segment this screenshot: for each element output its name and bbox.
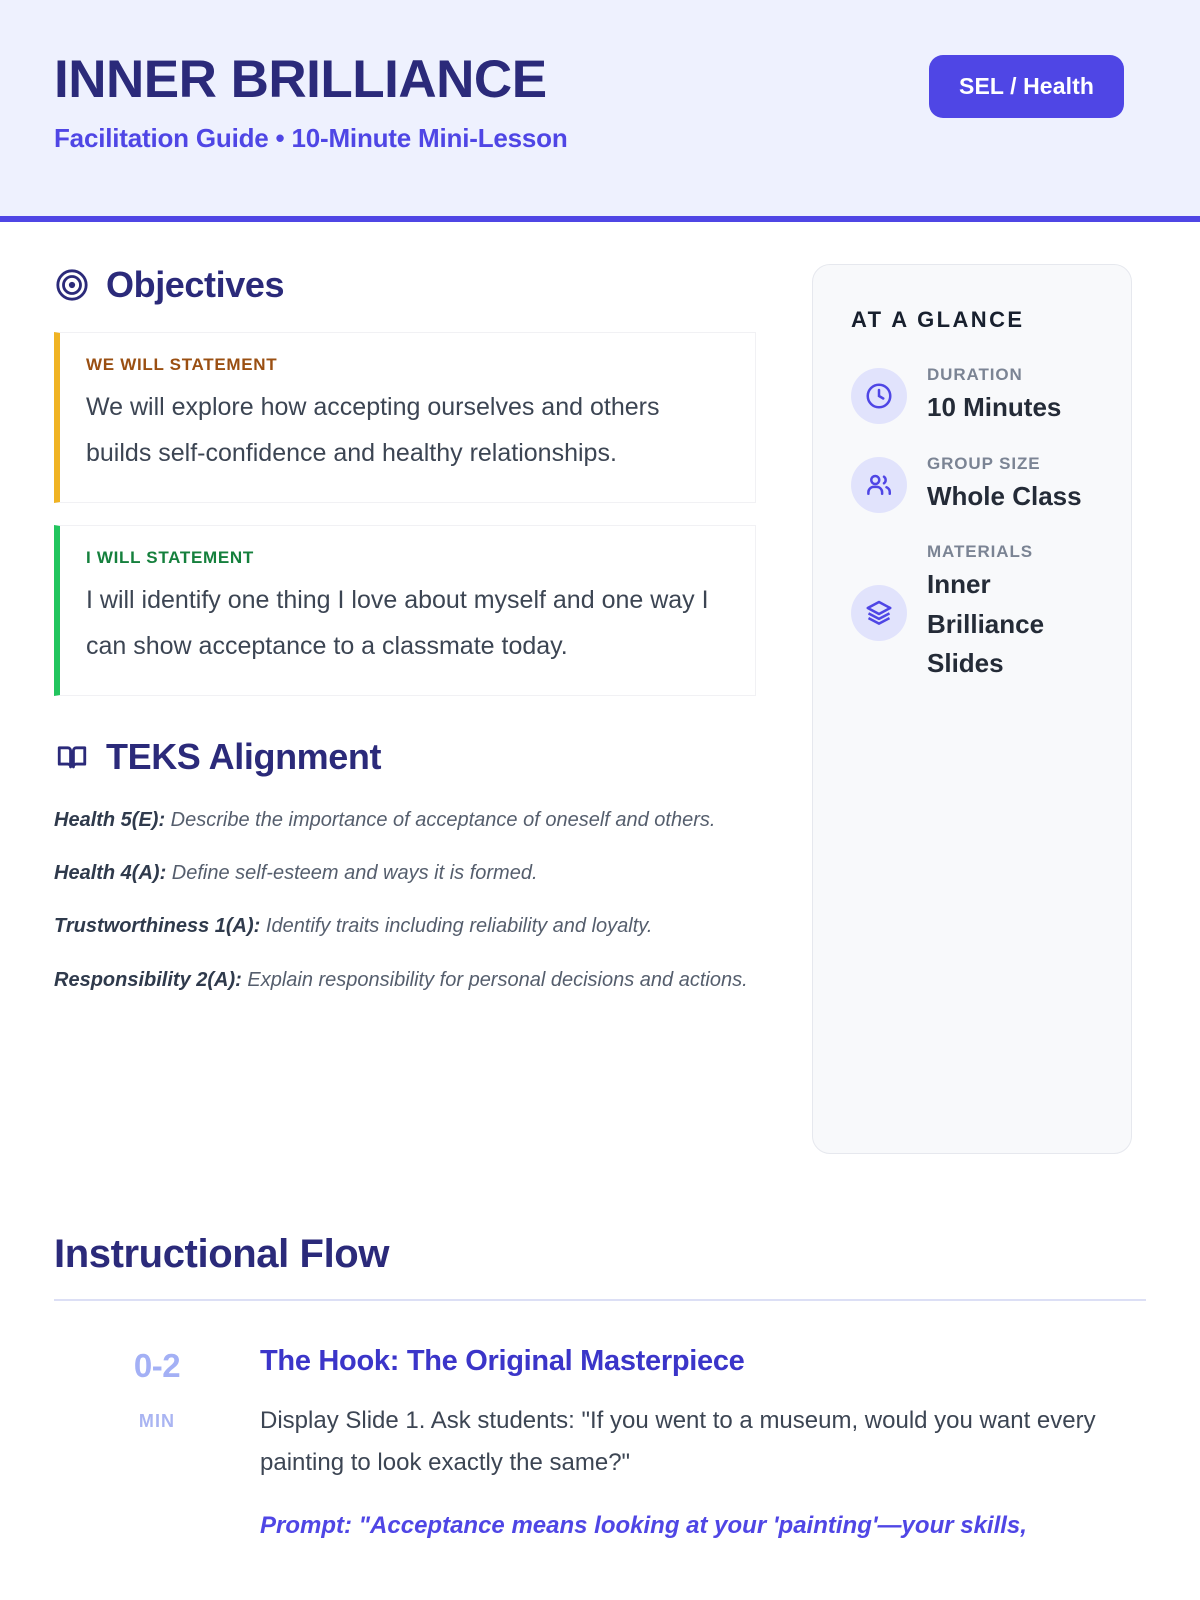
objective-label: I WILL STATEMENT [86,548,729,568]
teks-item: Health 5(E): Describe the importance of … [54,804,756,837]
at-a-glance-card: AT A GLANCE DURATION 10 Minutes [812,264,1132,1154]
instructional-flow-section: Instructional Flow 0-2 MIN The Hook: The… [54,1232,1146,1546]
teks-text: Define self-esteem and ways it is formed… [166,862,537,884]
flow-step: 0-2 MIN The Hook: The Original Masterpie… [54,1345,1146,1546]
objectives-title: Objectives [106,264,284,306]
main-column: Objectives WE WILL STATEMENT We will exp… [54,264,756,1017]
glance-meta: GROUP SIZE Whole Class [927,454,1082,517]
objective-text: We will explore how accepting ourselves … [86,385,729,476]
teks-code: Health 5(E): [54,809,165,831]
teks-code: Health 4(A): [54,862,166,884]
book-icon [54,739,90,775]
teks-code: Responsibility 2(A): [54,969,242,991]
sidebar-column: AT A GLANCE DURATION 10 Minutes [812,264,1132,1154]
teks-text: Identify traits including reliability an… [260,915,652,937]
page-header: INNER BRILLIANCE Facilitation Guide • 10… [0,0,1200,222]
page-subtitle: Facilitation Guide • 10-Minute Mini-Less… [54,123,1146,154]
flow-step-description: Display Slide 1. Ask students: "If you w… [260,1400,1146,1484]
clock-icon [851,368,907,424]
at-a-glance-title: AT A GLANCE [851,307,1101,333]
glance-value: 10 Minutes [927,388,1061,428]
objective-text: I will identify one thing I love about m… [86,578,729,669]
teks-code: Trustworthiness 1(A): [54,915,260,937]
glance-row-duration: DURATION 10 Minutes [851,365,1101,428]
teks-text: Describe the importance of acceptance of… [165,809,715,831]
glance-label: GROUP SIZE [927,454,1082,474]
flow-step-heading: The Hook: The Original Masterpiece [260,1345,1146,1378]
objective-label: WE WILL STATEMENT [86,355,729,375]
teks-item: Responsibility 2(A): Explain responsibil… [54,964,756,997]
teks-heading: TEKS Alignment [54,736,756,778]
flow-time-range: 0-2 [54,1347,260,1385]
content-columns: Objectives WE WILL STATEMENT We will exp… [54,264,1146,1154]
flow-step-time: 0-2 MIN [54,1345,260,1546]
teks-text: Explain responsibility for personal deci… [242,969,748,991]
instructional-flow-title: Instructional Flow [54,1232,1146,1277]
glance-label: MATERIALS [927,542,1077,562]
flow-time-unit: MIN [54,1411,260,1432]
teks-item: Trustworthiness 1(A): Identify traits in… [54,910,756,943]
teks-item: Health 4(A): Define self-esteem and ways… [54,857,756,890]
objective-card-we-will: WE WILL STATEMENT We will explore how ac… [54,332,756,503]
objective-card-i-will: I WILL STATEMENT I will identify one thi… [54,525,756,696]
section-divider [54,1299,1146,1301]
teks-section: TEKS Alignment Health 5(E): Describe the… [54,736,756,997]
glance-value: Whole Class [927,477,1082,517]
glance-row-materials: MATERIALS Inner Brilliance Slides [851,542,1101,684]
users-icon [851,457,907,513]
glance-meta: DURATION 10 Minutes [927,365,1061,428]
page-body: Objectives WE WILL STATEMENT We will exp… [0,222,1200,1546]
glance-label: DURATION [927,365,1061,385]
teks-title: TEKS Alignment [106,736,381,778]
flow-step-body: The Hook: The Original Masterpiece Displ… [260,1345,1146,1546]
glance-value: Inner Brilliance Slides [927,565,1077,684]
glance-row-group-size: GROUP SIZE Whole Class [851,454,1101,517]
subject-badge[interactable]: SEL / Health [929,55,1124,118]
objectives-heading: Objectives [54,264,756,306]
flow-step-prompt: Prompt: "Acceptance means looking at you… [260,1506,1146,1547]
glance-meta: MATERIALS Inner Brilliance Slides [927,542,1077,684]
layers-icon [851,585,907,641]
target-icon [54,267,90,303]
